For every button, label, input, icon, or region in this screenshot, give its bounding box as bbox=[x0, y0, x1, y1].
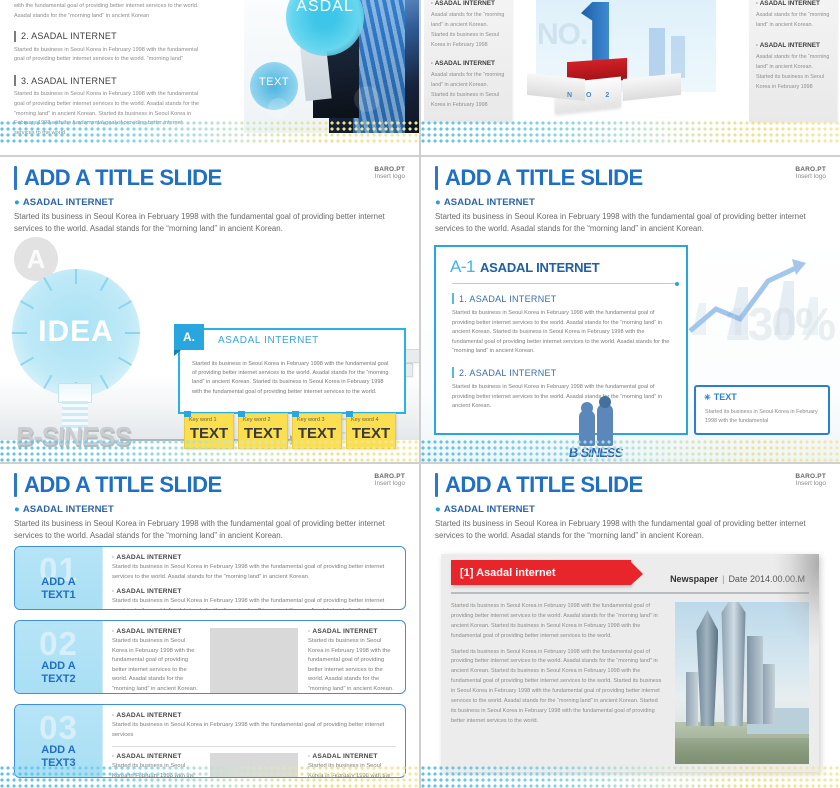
callout-body: Started its business in Seoul Korea in F… bbox=[705, 408, 821, 426]
bullet-icon: ● bbox=[14, 504, 20, 515]
bullet-icon: · bbox=[756, 42, 758, 49]
idea-label: IDEA bbox=[12, 315, 140, 349]
a1-key: A-1 bbox=[450, 257, 475, 277]
bullet-icon: · bbox=[756, 0, 758, 7]
a1-text: ASADAL INTERNET bbox=[480, 260, 600, 275]
slide-panel-mid-left[interactable]: ADD A TITLE SLIDE BARO.PT Insert logo ●A… bbox=[0, 157, 419, 462]
page-title: ADD A TITLE SLIDE bbox=[445, 167, 643, 189]
slide-header: ADD A TITLE SLIDE BARO.PT Insert logo ●A… bbox=[421, 464, 840, 542]
lead-paragraph: Started its business in Seoul Korea in F… bbox=[14, 518, 394, 542]
asadal-info-card[interactable]: A. ASADAL INTERNET Started its business … bbox=[178, 328, 406, 414]
block-row: ·ASADAL INTERNET Started its business in… bbox=[112, 554, 396, 582]
meta-source: Newspaper bbox=[670, 574, 718, 584]
meta-separator: | bbox=[722, 574, 724, 584]
a1-stage: 130% A-1 ASADAL INTERNET 1. bbox=[421, 235, 840, 462]
decorative-dot-band bbox=[421, 440, 840, 462]
photo-label-asdal: ASDAL bbox=[286, 0, 364, 16]
bullet-icon: ● bbox=[435, 197, 441, 208]
lead-paragraph: Started its business in Seoul Korea in F… bbox=[14, 211, 394, 235]
growth-arrow-graphic bbox=[682, 253, 822, 343]
bullet-icon: ● bbox=[14, 197, 20, 208]
row-divider bbox=[112, 746, 396, 747]
a1-title: A-1 ASADAL INTERNET bbox=[450, 257, 600, 277]
card-heading: · ASADAL INTERNET bbox=[431, 60, 505, 67]
block-body: ·ASADAL INTERNET Started its business in… bbox=[103, 547, 405, 609]
bullet-icon: · bbox=[112, 753, 114, 760]
decorative-dot-band bbox=[421, 766, 840, 788]
block-caption: ADD A TEXT1 bbox=[15, 576, 102, 604]
heading-mark-icon bbox=[14, 31, 16, 42]
decorative-dot-band bbox=[0, 440, 419, 462]
photo-label-text: TEXT bbox=[250, 76, 298, 88]
column-divider bbox=[210, 628, 298, 694]
block-column: ·ASADAL INTERNET Started its business in… bbox=[308, 628, 396, 694]
podium-label-no: NO. bbox=[537, 18, 587, 52]
keyword-label: Key word 1 bbox=[189, 417, 217, 423]
heading-mark-icon bbox=[14, 75, 16, 86]
card-body: Asadal stands for the “morning land” in … bbox=[431, 70, 505, 110]
panel-vertical-divider bbox=[419, 0, 421, 788]
logo-placeholder: BARO.PT Insert logo bbox=[374, 166, 405, 181]
bullet-icon: · bbox=[112, 628, 114, 635]
title-accent-bar bbox=[435, 166, 438, 190]
card-body: Asadal stands for the “morning land” in … bbox=[431, 10, 505, 50]
block-row: ·ASADAL INTERNET Started its business in… bbox=[112, 712, 396, 740]
title-underline bbox=[452, 283, 677, 284]
bullet-icon: · bbox=[431, 0, 433, 7]
a1-item-1: 1. ASADAL INTERNET Started its business … bbox=[452, 293, 672, 357]
bullet-icon: · bbox=[112, 554, 114, 561]
newspaper-sheet[interactable]: [1] Asadal internet Newspaper|Date 2014.… bbox=[441, 554, 819, 772]
bullet-icon: ● bbox=[435, 504, 441, 515]
title-accent-bar bbox=[435, 473, 438, 497]
panel-horizontal-divider bbox=[0, 462, 840, 464]
card-body: Asadal stands for the “morning land” in … bbox=[756, 52, 830, 92]
sub-heading: ●ASADAL INTERNET bbox=[435, 504, 826, 515]
block-number: 02 bbox=[15, 625, 102, 663]
slide-panel-bottom-left[interactable]: ADD A TITLE SLIDE BARO.PT Insert logo ●A… bbox=[0, 464, 419, 788]
slide-header: ADD A TITLE SLIDE BARO.PT Insert logo ●A… bbox=[421, 157, 840, 235]
block-number-panel: 02 ADD A TEXT2 bbox=[15, 621, 103, 693]
block-number-panel: 01 ADD A TEXT1 bbox=[15, 547, 103, 609]
decorative-dot-band bbox=[0, 766, 419, 788]
keyword-label: Key word 4 bbox=[351, 417, 379, 423]
callout-title: ✳TEXT bbox=[704, 392, 737, 402]
numbered-blocks-stage: 01 ADD A TEXT1 ·ASADAL INTERNET Started … bbox=[0, 546, 419, 788]
idea-stage: A IDEA B-SINESS A bbox=[0, 235, 419, 462]
keyword-label: Key word 3 bbox=[297, 417, 325, 423]
sub-heading: ●ASADAL INTERNET bbox=[435, 197, 826, 208]
heading-mark-icon bbox=[452, 293, 454, 304]
logo-placeholder: BARO.PT Insert logo bbox=[795, 473, 826, 488]
intro-tail-text: with the fundamental goal of providing b… bbox=[14, 2, 204, 22]
slide-panel-mid-right[interactable]: ADD A TITLE SLIDE BARO.PT Insert logo ●A… bbox=[421, 157, 840, 462]
businessman-photo: ASDAL TEXT bbox=[244, 0, 419, 133]
bullet-icon: · bbox=[112, 588, 114, 595]
sub-heading: ●ASADAL INTERNET bbox=[14, 197, 405, 208]
logo-placeholder: BARO.PT Insert logo bbox=[795, 166, 826, 181]
logo-placeholder: BARO.PT Insert logo bbox=[374, 473, 405, 488]
heading-mark-icon bbox=[452, 367, 454, 378]
card-heading: · ASADAL INTERNET bbox=[756, 42, 830, 49]
article-paragraph: Started its business in Seoul Korea in F… bbox=[451, 602, 663, 642]
page-title: ADD A TITLE SLIDE bbox=[24, 474, 222, 496]
article-banner-label: [1] Asadal internet bbox=[451, 567, 556, 579]
block-row: ·ASADAL INTERNET Started its business in… bbox=[112, 588, 396, 610]
numbered-block-02[interactable]: 02 ADD A TEXT2 ·ASADAL INTERNET Started … bbox=[14, 620, 406, 694]
page-curl-effect bbox=[773, 554, 819, 650]
slide-panel-top-left[interactable]: with the fundamental goal of providing b… bbox=[0, 0, 419, 155]
sparkle-icon: ✳ bbox=[704, 393, 711, 402]
article-paragraph: Started its business in Seoul Korea in F… bbox=[451, 648, 663, 727]
slide-panel-bottom-right[interactable]: ADD A TITLE SLIDE BARO.PT Insert logo ●A… bbox=[421, 464, 840, 788]
list-item-body-2: Started its business in Seoul Korea in F… bbox=[14, 46, 204, 66]
article-text: Started its business in Seoul Korea in F… bbox=[451, 602, 663, 764]
page-title: ADD A TITLE SLIDE bbox=[24, 167, 222, 189]
slide-header: ADD A TITLE SLIDE BARO.PT Insert logo ●A… bbox=[0, 464, 419, 542]
title-accent-bar bbox=[14, 166, 17, 190]
bullet-icon: · bbox=[308, 628, 310, 635]
block-number: 03 bbox=[15, 709, 102, 747]
decorative-dot-band bbox=[421, 121, 840, 143]
article-banner: [1] Asadal internet bbox=[451, 560, 631, 585]
card-title: ASADAL INTERNET bbox=[218, 335, 319, 346]
text-callout-box[interactable]: ✳TEXT Started its business in Seoul Kore… bbox=[694, 385, 830, 435]
block-body: ·ASADAL INTERNET Started its business in… bbox=[103, 621, 405, 693]
card-body: Started its business in Seoul Korea in F… bbox=[192, 360, 394, 397]
lead-paragraph: Started its business in Seoul Korea in F… bbox=[435, 518, 815, 542]
list-item-heading-3: 3. ASADAL INTERNET bbox=[14, 75, 204, 86]
card-heading: · ASADAL INTERNET bbox=[756, 0, 830, 7]
numbered-block-01[interactable]: 01 ADD A TEXT1 ·ASADAL INTERNET Started … bbox=[14, 546, 406, 610]
decorative-dot-band bbox=[0, 121, 419, 143]
podium-graphic: NO. N O 2 bbox=[531, 0, 731, 140]
panel-horizontal-divider bbox=[0, 155, 840, 157]
list-item-heading-2: 2. ASADAL INTERNET bbox=[14, 31, 204, 42]
slide-header: ADD A TITLE SLIDE BARO.PT Insert logo ●A… bbox=[0, 157, 419, 235]
sub-heading: ●ASADAL INTERNET bbox=[14, 504, 405, 515]
newspaper-stage: [1] Asadal internet Newspaper|Date 2014.… bbox=[421, 546, 840, 788]
left-text-card: · ASADAL INTERNET Asadal stands for the … bbox=[424, 0, 512, 122]
slide-panel-top-right[interactable]: · ASADAL INTERNET Asadal stands for the … bbox=[421, 0, 840, 155]
bullet-icon: · bbox=[431, 60, 433, 67]
card-body: Asadal stands for the “morning land” in … bbox=[756, 10, 830, 30]
card-heading: · ASADAL INTERNET bbox=[431, 0, 505, 7]
lightbulb-neck bbox=[58, 383, 92, 403]
block-caption: ADD A TEXT2 bbox=[15, 660, 102, 688]
card-tab-label: A. bbox=[174, 324, 204, 350]
article-rule bbox=[451, 592, 809, 594]
slide-deck-contact-sheet: with the fundamental goal of providing b… bbox=[0, 0, 840, 788]
bullet-icon: · bbox=[308, 753, 310, 760]
lead-paragraph: Started its business in Seoul Korea in F… bbox=[435, 211, 815, 235]
page-title: ADD A TITLE SLIDE bbox=[445, 474, 643, 496]
bullet-icon: · bbox=[112, 712, 114, 719]
keyword-label: Key word 2 bbox=[243, 417, 271, 423]
podium-label-rank: N O 2 bbox=[567, 92, 615, 99]
title-accent-bar bbox=[14, 473, 17, 497]
block-column: ·ASADAL INTERNET Started its business in… bbox=[112, 628, 200, 694]
right-text-card: · ASADAL INTERNET Asadal stands for the … bbox=[749, 0, 837, 122]
